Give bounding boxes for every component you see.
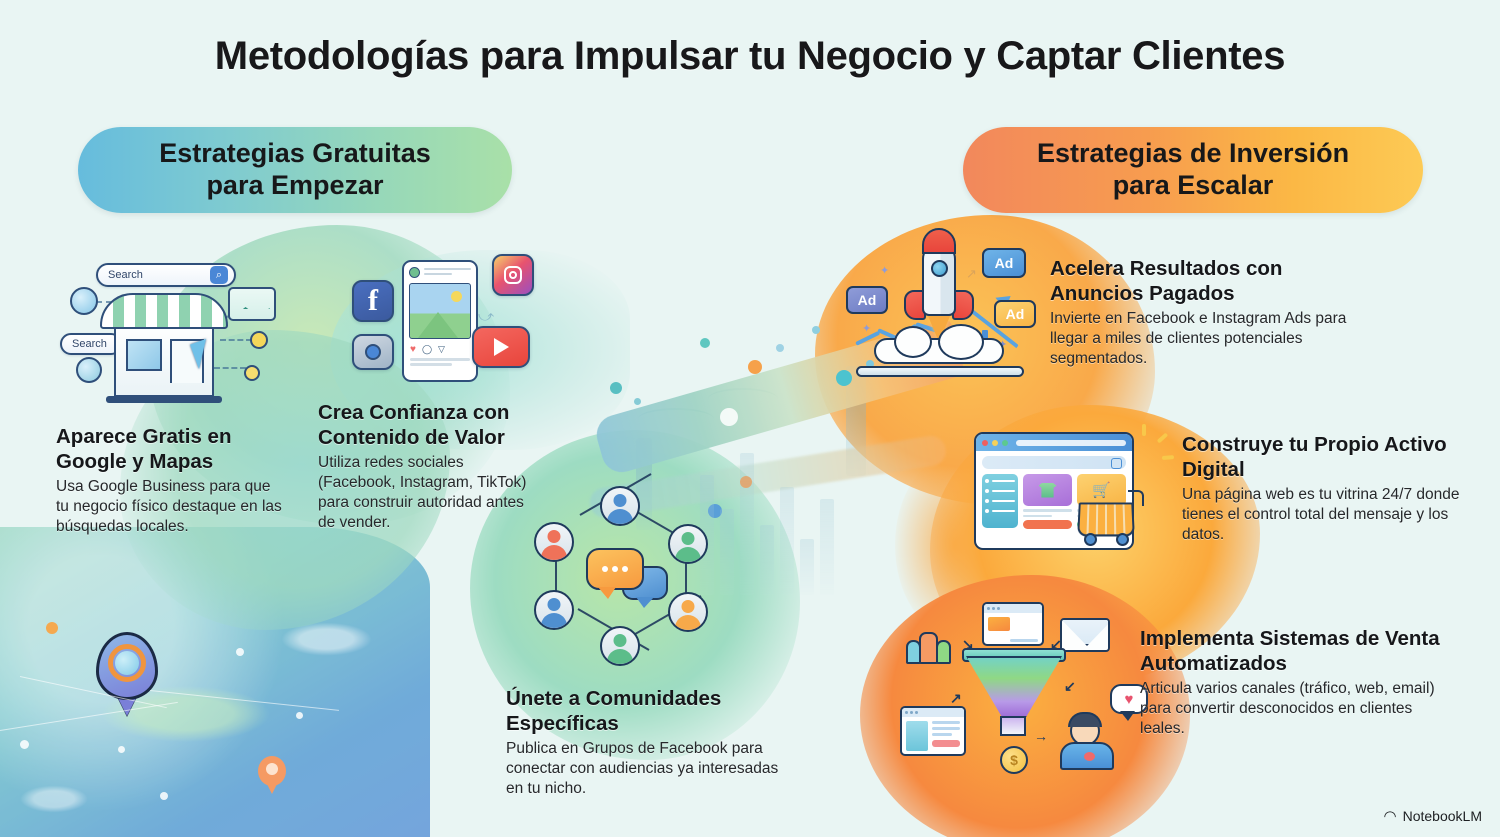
strategy-block-google-maps: Aparece Gratis en Google y Mapas Usa Goo… (56, 424, 284, 537)
storefront-search-icon: Search ⌕ Search (62, 245, 292, 405)
strategy-body-google-maps: Usa Google Business para que tu negocio … (56, 477, 284, 537)
map-route-2 (150, 690, 339, 711)
instagram-icon (492, 254, 534, 296)
funnel-stem (1000, 716, 1026, 736)
yellow-node-icon-1 (250, 331, 268, 349)
ad-badge-1-label: Ad (858, 292, 877, 308)
section-header-paid-line1: Estrategias de Inversión (1037, 138, 1349, 170)
bridge-node-7 (740, 476, 752, 488)
map-dot-6 (236, 648, 244, 656)
ad-badge-2-label: Ad (995, 255, 1014, 271)
post-header (404, 262, 476, 278)
map-dot-2 (20, 740, 29, 749)
community-avatar-5 (534, 590, 574, 630)
tshirt-icon (1039, 483, 1057, 498)
funnel-arrow-3: ↗ (950, 690, 962, 707)
map-dot-1 (46, 622, 58, 634)
bridge-node-1 (700, 338, 710, 348)
launch-smoke-cloud (874, 338, 1004, 364)
strategy-body-paid-ads: Invierte en Facebook e Instagram Ads par… (1050, 309, 1350, 369)
cart-wheel-left (1084, 533, 1097, 546)
traffic-page-titlebar (902, 708, 964, 717)
bridge-node-9 (610, 382, 622, 394)
strategy-body-communities: Publica en Grupos de Facebook para conec… (506, 739, 796, 799)
map-dot-4 (118, 746, 125, 753)
customer-hair (1068, 712, 1102, 727)
bridge-node-2 (748, 360, 762, 374)
product-1-button[interactable] (1023, 520, 1072, 529)
cart-wheel-right (1116, 533, 1129, 546)
shopping-cart-icon (1078, 492, 1144, 546)
curved-arrow-icon: ⤻ (478, 308, 494, 325)
map-route-3 (20, 676, 167, 708)
magnifier-node-icon (70, 287, 98, 315)
strategy-block-content-trust: Crea Confianza con Contenido de Valor Ut… (318, 400, 544, 534)
browser-dot-close[interactable] (982, 440, 988, 446)
bridge-cable-2 (708, 388, 778, 410)
notebooklm-logo-icon: ◠ (1384, 807, 1397, 825)
community-network-icon (528, 486, 714, 666)
community-avatar-1 (600, 486, 640, 526)
search-field-secondary-text: Search (72, 338, 107, 350)
map-route-1 (0, 702, 178, 731)
section-header-free-line1: Estrategias Gratuitas (159, 138, 431, 170)
strategy-heading-google-maps: Aparece Gratis en Google y Mapas (56, 424, 284, 474)
product-thumb-tshirt (1023, 474, 1072, 506)
camera-icon (352, 334, 394, 370)
traffic-page-window (900, 706, 966, 756)
traffic-page-text (932, 721, 960, 751)
sales-funnel-icon: $ ♥ ↘ ↙ ↗ ↙ → (904, 616, 1124, 786)
landing-hero-block (988, 617, 1010, 631)
site-search-bar[interactable] (982, 456, 1126, 469)
rocket-nose (922, 228, 956, 254)
customer-avatar-icon (1060, 712, 1114, 770)
community-avatar-3 (668, 592, 708, 632)
bridge-node-10 (634, 398, 641, 405)
strategy-heading-paid-ads: Acelera Resultados con Anuncios Pagados (1050, 256, 1350, 306)
ad-badge-3-label: Ad (1006, 306, 1025, 322)
map-pin-main (96, 632, 158, 718)
audience-person-3 (936, 640, 951, 664)
facebook-icon-glyph: f (368, 284, 378, 318)
section-header-free-line2: para Empezar (159, 170, 431, 202)
map-pin-tip (109, 680, 145, 716)
connector-line-4 (214, 367, 246, 369)
comment-icon: ◯ (422, 344, 432, 355)
post-avatar (409, 267, 420, 278)
chat-bubble-orange-icon (586, 548, 644, 590)
heart-icon: ♥ (410, 344, 416, 355)
map-pin-bulb (96, 632, 158, 700)
notebooklm-label: NotebookLM (1403, 808, 1482, 824)
funnel-cone (966, 656, 1062, 718)
money-coin-icon: $ (1000, 746, 1028, 774)
strategy-body-digital-asset: Una página web es tu vitrina 24/7 donde … (1182, 485, 1482, 545)
bridge-node-11 (720, 408, 738, 426)
browser-dot-maximize[interactable] (1002, 440, 1008, 446)
section-header-paid-line2: para Escalar (1037, 170, 1349, 202)
map-pin-secondary-core (266, 763, 278, 775)
search-field-primary[interactable]: Search ⌕ (96, 263, 236, 287)
ad-badge-1: Ad (846, 286, 888, 314)
product-card-1 (1023, 474, 1072, 529)
strategy-block-sales-automation: Implementa Sistemas de Venta Automatizad… (1140, 626, 1450, 739)
traffic-page-body (902, 717, 964, 755)
facebook-icon: f (352, 280, 394, 322)
camera-lens-glyph (365, 344, 381, 360)
browser-dot-minimize[interactable] (992, 440, 998, 446)
funnel-arrow-2: ↙ (1050, 636, 1062, 653)
strategy-body-content-trust: Utiliza redes sociales (Facebook, Instag… (318, 453, 544, 534)
social-post-mockup: ♥ ◯ ▽ (402, 260, 478, 382)
strategy-block-paid-ads: Acelera Resultados con Anuncios Pagados … (1050, 256, 1350, 369)
infographic-canvas: Metodologías para Impulsar tu Negocio y … (0, 0, 1500, 837)
map-pin-secondary-tip (263, 776, 281, 794)
strategy-heading-communities: Únete a Comunidades Específicas (506, 686, 796, 736)
section-header-free: Estrategias Gratuitas para Empezar (78, 127, 512, 213)
strategy-block-communities: Únete a Comunidades Específicas Publica … (506, 686, 796, 799)
email-icon (1060, 618, 1110, 652)
ecommerce-website-icon: 🛒 (974, 424, 1164, 584)
post-action-icons: ♥ ◯ ▽ (404, 339, 476, 355)
instagram-icon-glyph (504, 266, 522, 284)
connector-line-3 (220, 339, 252, 341)
strategy-block-digital-asset: Construye tu Propio Activo Digital Una p… (1182, 432, 1482, 545)
traffic-page-cta[interactable] (932, 740, 960, 747)
yellow-node-icon-2 (244, 365, 260, 381)
funnel-arrow-1: ↘ (962, 636, 974, 653)
ghost-chart-bars (700, 395, 900, 595)
funnel-arrow-4: ↙ (1064, 678, 1076, 695)
strategy-heading-content-trust: Crea Confianza con Contenido de Valor (318, 400, 544, 450)
map-dot-3 (160, 792, 168, 800)
coin-label: $ (1010, 752, 1018, 768)
ad-badge-2: Ad (982, 248, 1026, 278)
search-field-primary-text: Search (108, 269, 143, 281)
shop-awning (100, 293, 228, 329)
map-pin-ring-inner (115, 651, 139, 675)
map-pin-secondary-bulb (258, 756, 286, 786)
social-media-icons: ♥ ◯ ▽ f ⤻ (346, 248, 546, 398)
audience-group-icon (906, 626, 960, 664)
post-caption-lines (404, 355, 476, 371)
map-pin-secondary (258, 756, 286, 796)
audience-person-2 (919, 632, 938, 664)
trend-chart-icon (228, 287, 276, 321)
landing-page-titlebar (984, 604, 1042, 613)
strategy-body-sales-automation: Articula varios canales (tráfico, web, e… (1140, 679, 1450, 739)
section-header-paid: Estrategias de Inversión para Escalar (963, 127, 1423, 213)
sparkle-icon-1: ✦ (880, 264, 889, 277)
landing-page-window (982, 602, 1044, 646)
shop-window (126, 339, 162, 371)
strategy-heading-sales-automation: Implementa Sistemas de Venta Automatizad… (1140, 626, 1450, 676)
browser-titlebar (976, 434, 1132, 451)
map-dot-5 (296, 712, 303, 719)
customer-body (1060, 742, 1114, 770)
ad-badge-3: Ad (994, 300, 1036, 328)
product-1-lines (1023, 509, 1072, 517)
post-meta-lines (424, 268, 471, 278)
traffic-page-image (906, 721, 928, 751)
strategy-heading-digital-asset: Construye tu Propio Activo Digital (1182, 432, 1482, 482)
cart-handle (1128, 490, 1144, 506)
funnel-arrow-5: → (1034, 728, 1048, 744)
launch-pad (856, 366, 1024, 377)
map-pin-ring-outer (108, 644, 146, 682)
search-icon[interactable]: ⌕ (210, 266, 228, 284)
community-avatar-4 (600, 626, 640, 666)
landing-text-lines (1010, 639, 1038, 646)
community-avatar-2 (668, 524, 708, 564)
play-glyph (494, 338, 509, 356)
bridge-node-3 (776, 344, 784, 352)
notebooklm-watermark: ◠ NotebookLM (1384, 807, 1482, 825)
cart-basket (1077, 503, 1135, 537)
map-background-illustration (0, 527, 430, 837)
browser-address-bar[interactable] (1016, 440, 1126, 446)
arrow-small-icon-2: ↗ (966, 266, 977, 282)
clock-node-icon (76, 357, 102, 383)
rocket-launch-icon: ✦ ✦ ✦ ↑ ↗ Ad Ad Ad (846, 238, 1046, 388)
youtube-icon (472, 326, 530, 368)
page-title: Metodologías para Impulsar tu Negocio y … (0, 34, 1500, 79)
site-sidebar-filters (982, 474, 1018, 528)
shop-base (106, 396, 222, 403)
share-icon: ▽ (438, 344, 445, 355)
bridge-cable-1 (638, 408, 714, 430)
post-image (409, 283, 471, 339)
bridge-node-4 (812, 326, 820, 334)
rocket-window (931, 260, 948, 277)
